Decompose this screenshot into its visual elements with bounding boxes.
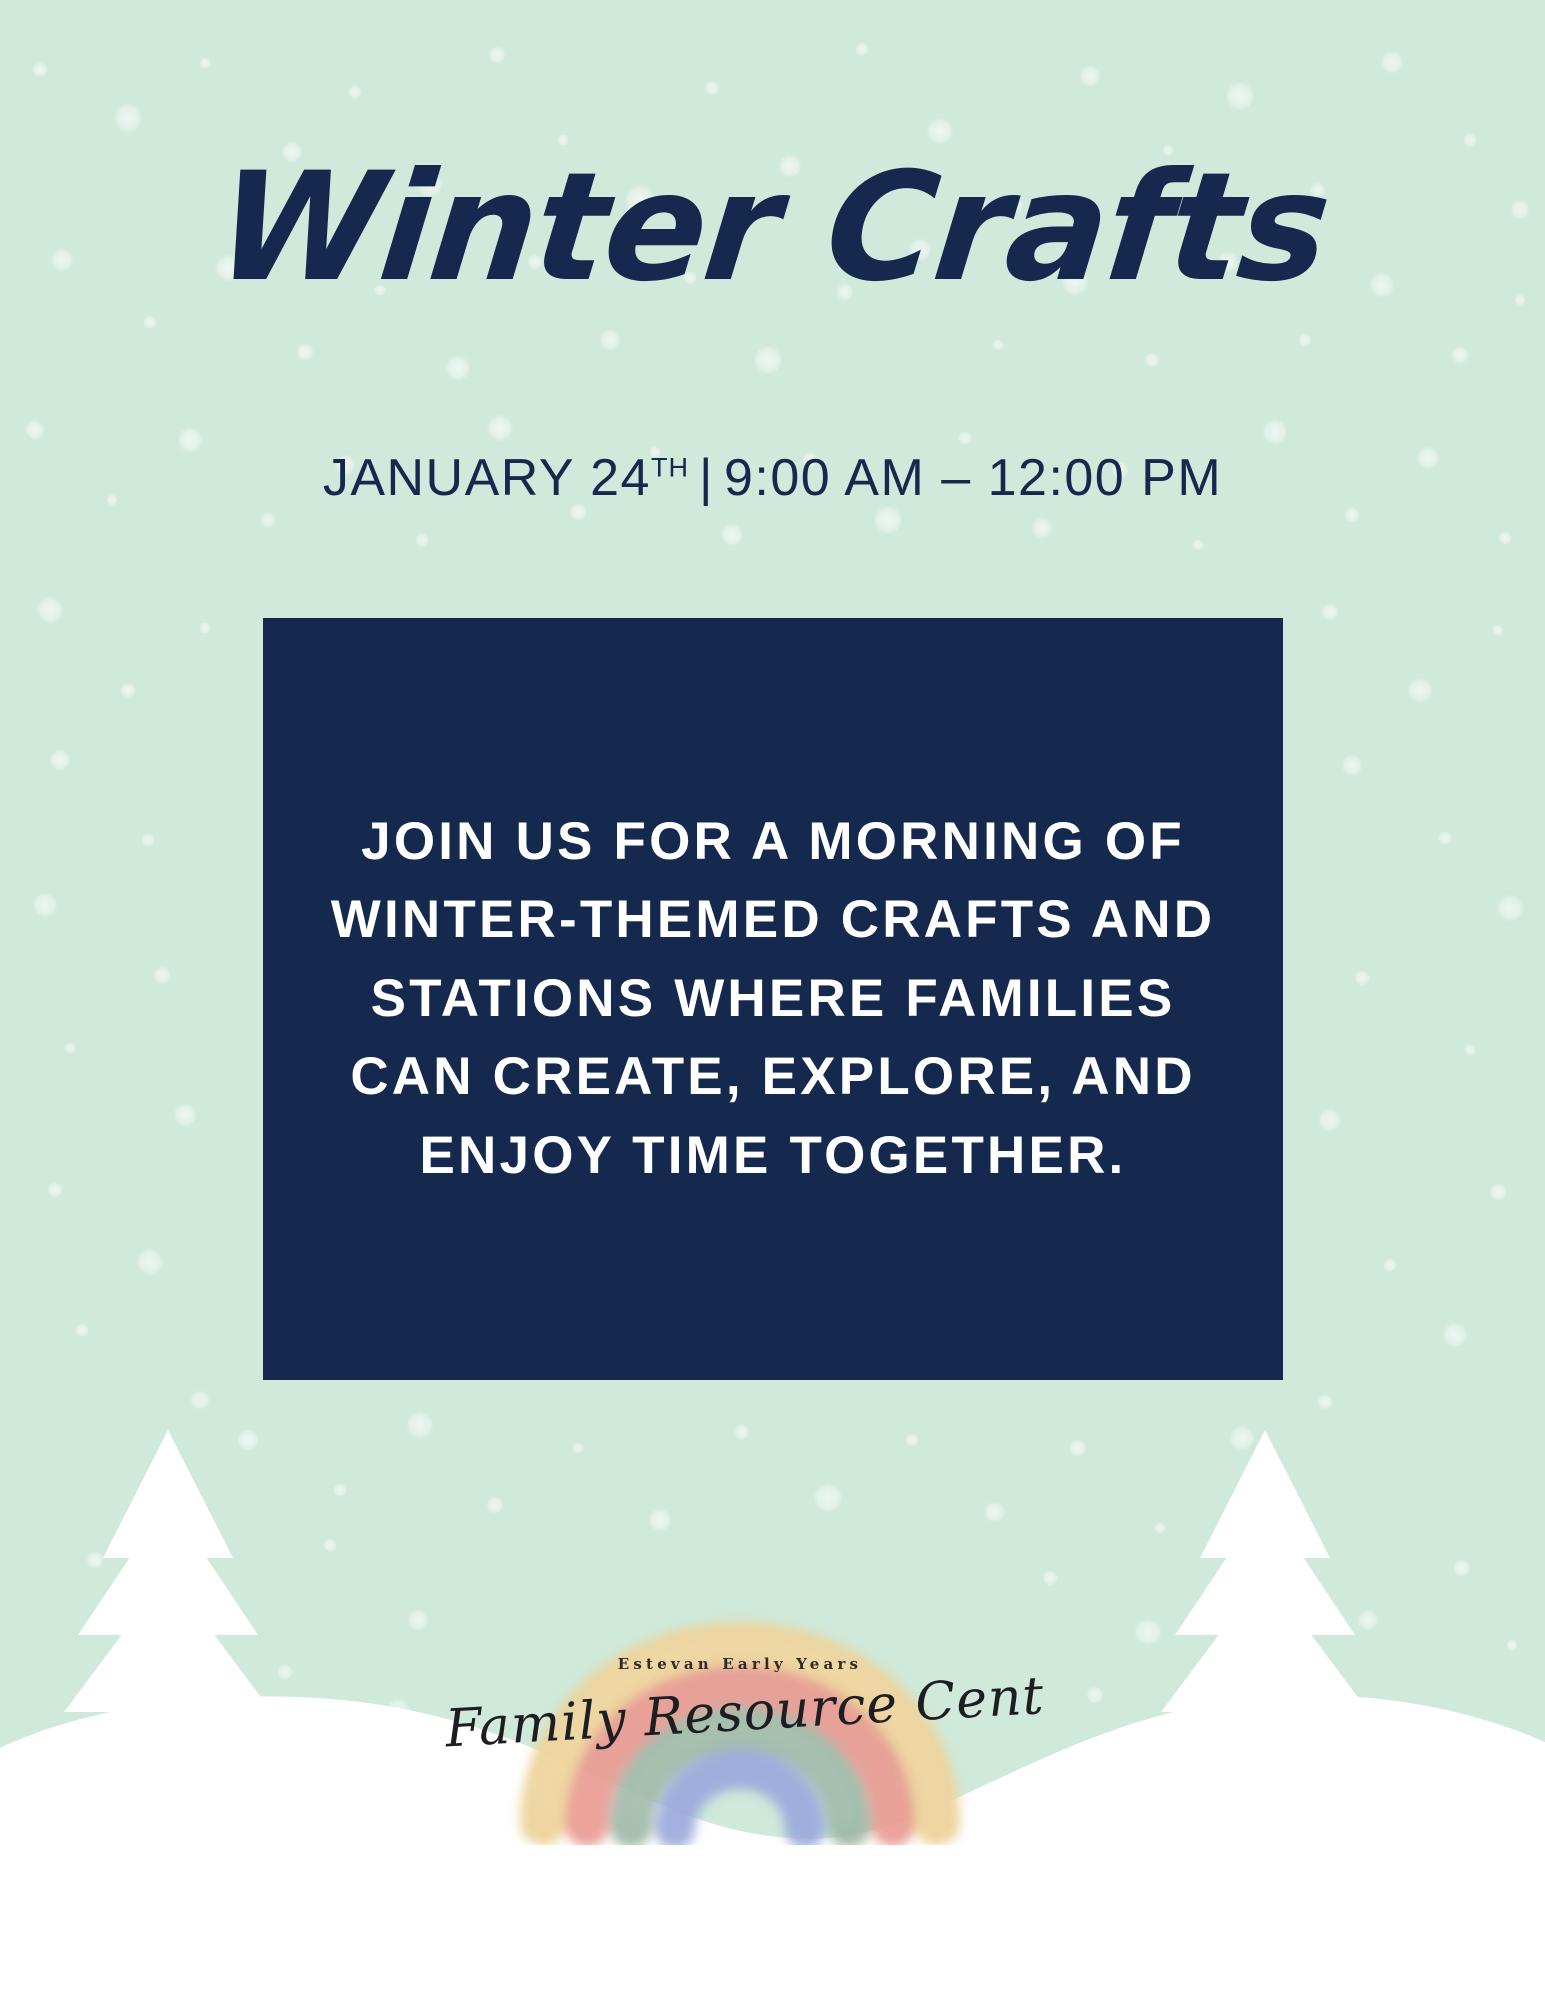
event-datetime: JANUARY 24TH|9:00 AM – 12:00 PM bbox=[0, 452, 1545, 504]
page-title: Winter Crafts bbox=[0, 150, 1545, 308]
description-text: JOIN US FOR A MORNING OF WINTER-THEMED C… bbox=[311, 803, 1235, 1195]
event-date: JANUARY 24 bbox=[323, 449, 651, 507]
winter-crafts-flyer: Winter Crafts JANUARY 24TH|9:00 AM – 12:… bbox=[0, 0, 1545, 1999]
event-time-range: 9:00 AM – 12:00 PM bbox=[724, 449, 1222, 507]
logo-tagline: Estevan Early Years bbox=[505, 1655, 975, 1673]
datetime-separator: | bbox=[689, 449, 724, 507]
description-panel: JOIN US FOR A MORNING OF WINTER-THEMED C… bbox=[263, 618, 1283, 1380]
date-ordinal-suffix: TH bbox=[651, 453, 689, 483]
organization-logo: Estevan Early Years Family Resource Cent bbox=[505, 1505, 975, 1845]
